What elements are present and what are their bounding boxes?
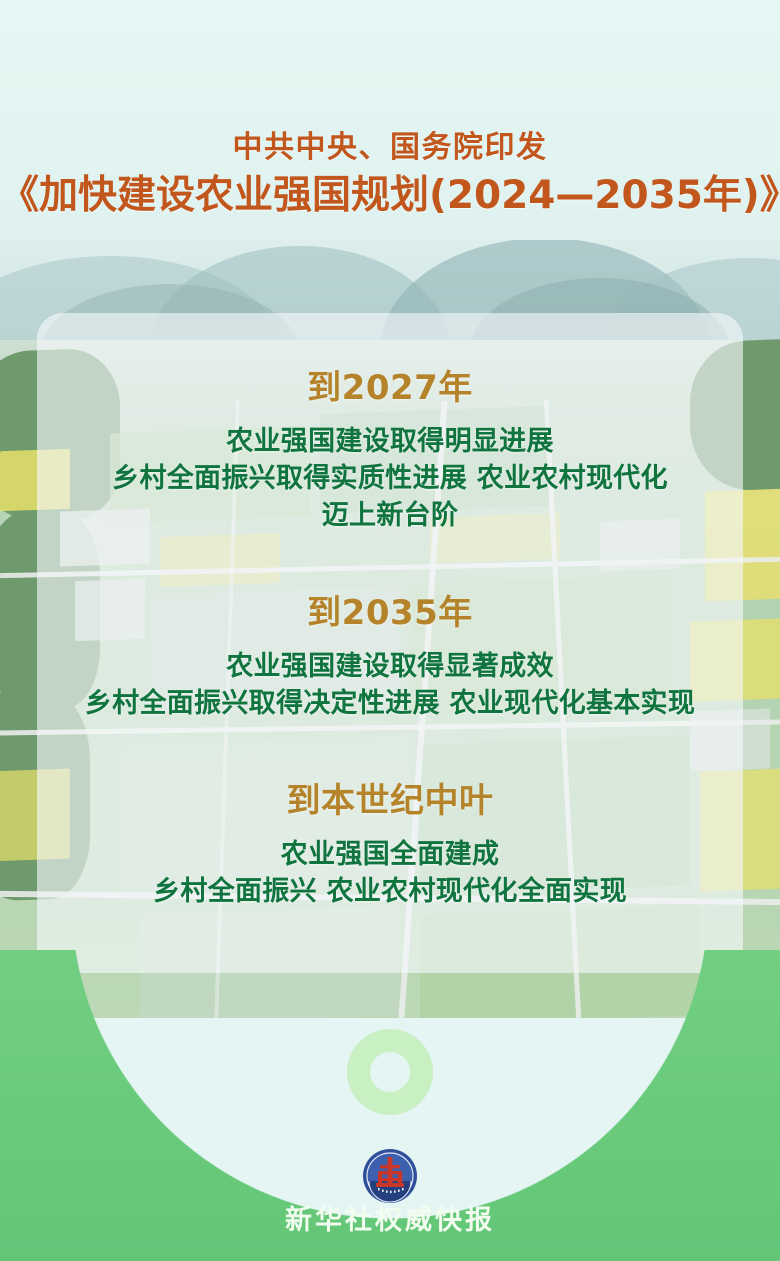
milestone-line: 农业强国建设取得明显进展: [37, 423, 743, 460]
milestone-line: 乡村全面振兴取得决定性进展 农业现代化基本实现: [37, 685, 743, 722]
footer-caption: 新华社权威快报: [0, 1198, 780, 1237]
xinhua-emblem-icon: [362, 1148, 418, 1204]
milestone-section-mid-century: 到本世纪中叶 农业强国全面建成 乡村全面振兴 农业农村现代化全面实现: [37, 722, 743, 910]
milestone-heading: 到2035年: [37, 590, 743, 636]
milestone-heading: 到本世纪中叶: [37, 778, 743, 824]
milestone-line: 乡村全面振兴 农业农村现代化全面实现: [37, 873, 743, 910]
title-line-2: 《加快建设农业强国规划(2024—2035年)》: [0, 170, 780, 222]
page-title: 中共中央、国务院印发 《加快建设农业强国规划(2024—2035年)》: [0, 128, 780, 222]
milestone-section-2027: 到2027年 农业强国建设取得明显进展 乡村全面振兴取得实质性进展 农业农村现代…: [37, 313, 743, 534]
milestone-section-2035: 到2035年 农业强国建设取得显著成效 乡村全面振兴取得决定性进展 农业现代化基…: [37, 534, 743, 722]
milestone-line: 迈上新台阶: [37, 497, 743, 534]
title-line-1: 中共中央、国务院印发: [0, 128, 780, 168]
poster-root: 中共中央、国务院印发 《加快建设农业强国规划(2024—2035年)》 到202…: [0, 0, 780, 1261]
milestone-line: 乡村全面振兴取得实质性进展 农业农村现代化: [37, 460, 743, 497]
ring-decoration-icon: [347, 1029, 433, 1115]
milestone-heading: 到2027年: [37, 365, 743, 411]
milestone-line: 农业强国全面建成: [37, 836, 743, 873]
milestone-line: 农业强国建设取得显著成效: [37, 648, 743, 685]
content-sections: 到2027年 农业强国建设取得明显进展 乡村全面振兴取得实质性进展 农业农村现代…: [37, 313, 743, 910]
